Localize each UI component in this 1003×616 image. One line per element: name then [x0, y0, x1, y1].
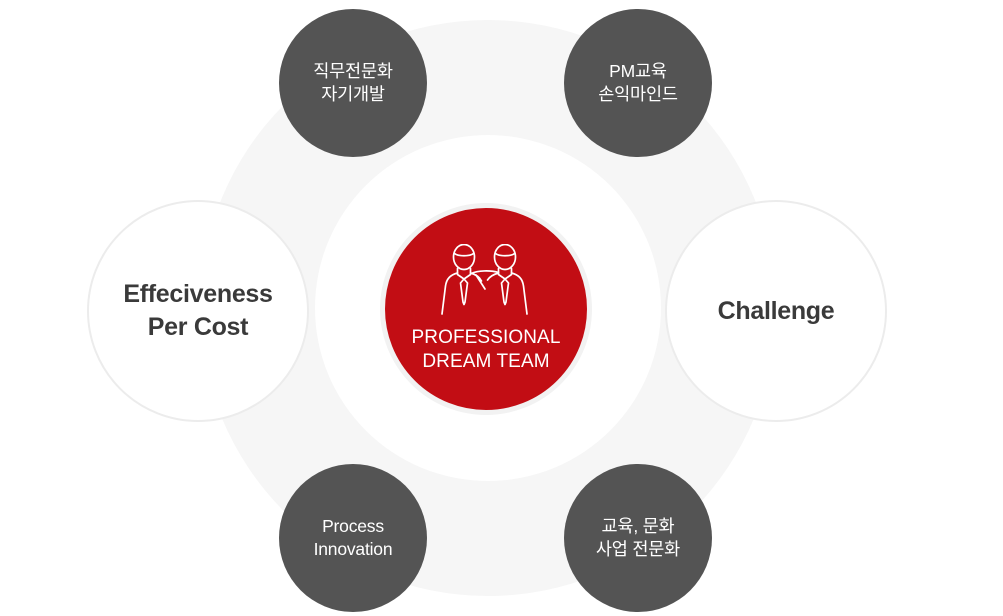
node-center-professional-dream-team[interactable]: PROFESSIONAL DREAM TEAM: [380, 203, 592, 415]
node-left-effeciveness-per-cost[interactable]: Effeciveness Per Cost: [87, 200, 309, 422]
diagram-canvas: 직무전문화 자기개발 PM교육 손익마인드 Effeciveness Per C…: [0, 0, 1003, 616]
node-top-right-label: PM교육 손익마인드: [598, 60, 678, 106]
node-left-label: Effeciveness Per Cost: [123, 278, 272, 344]
node-bottom-right[interactable]: 교육, 문화 사업 전문화: [564, 464, 712, 612]
node-bottom-left-label: Process Innovation: [314, 515, 393, 561]
node-top-right[interactable]: PM교육 손익마인드: [564, 9, 712, 157]
node-right-label: Challenge: [718, 295, 835, 328]
node-top-left[interactable]: 직무전문화 자기개발: [279, 9, 427, 157]
node-bottom-left[interactable]: Process Innovation: [279, 464, 427, 612]
two-businessmen-icon: [432, 244, 540, 322]
node-bottom-right-label: 교육, 문화 사업 전문화: [596, 515, 680, 561]
center-label: PROFESSIONAL DREAM TEAM: [411, 326, 560, 375]
node-right-challenge[interactable]: Challenge: [665, 200, 887, 422]
node-top-left-label: 직무전문화 자기개발: [313, 60, 393, 106]
